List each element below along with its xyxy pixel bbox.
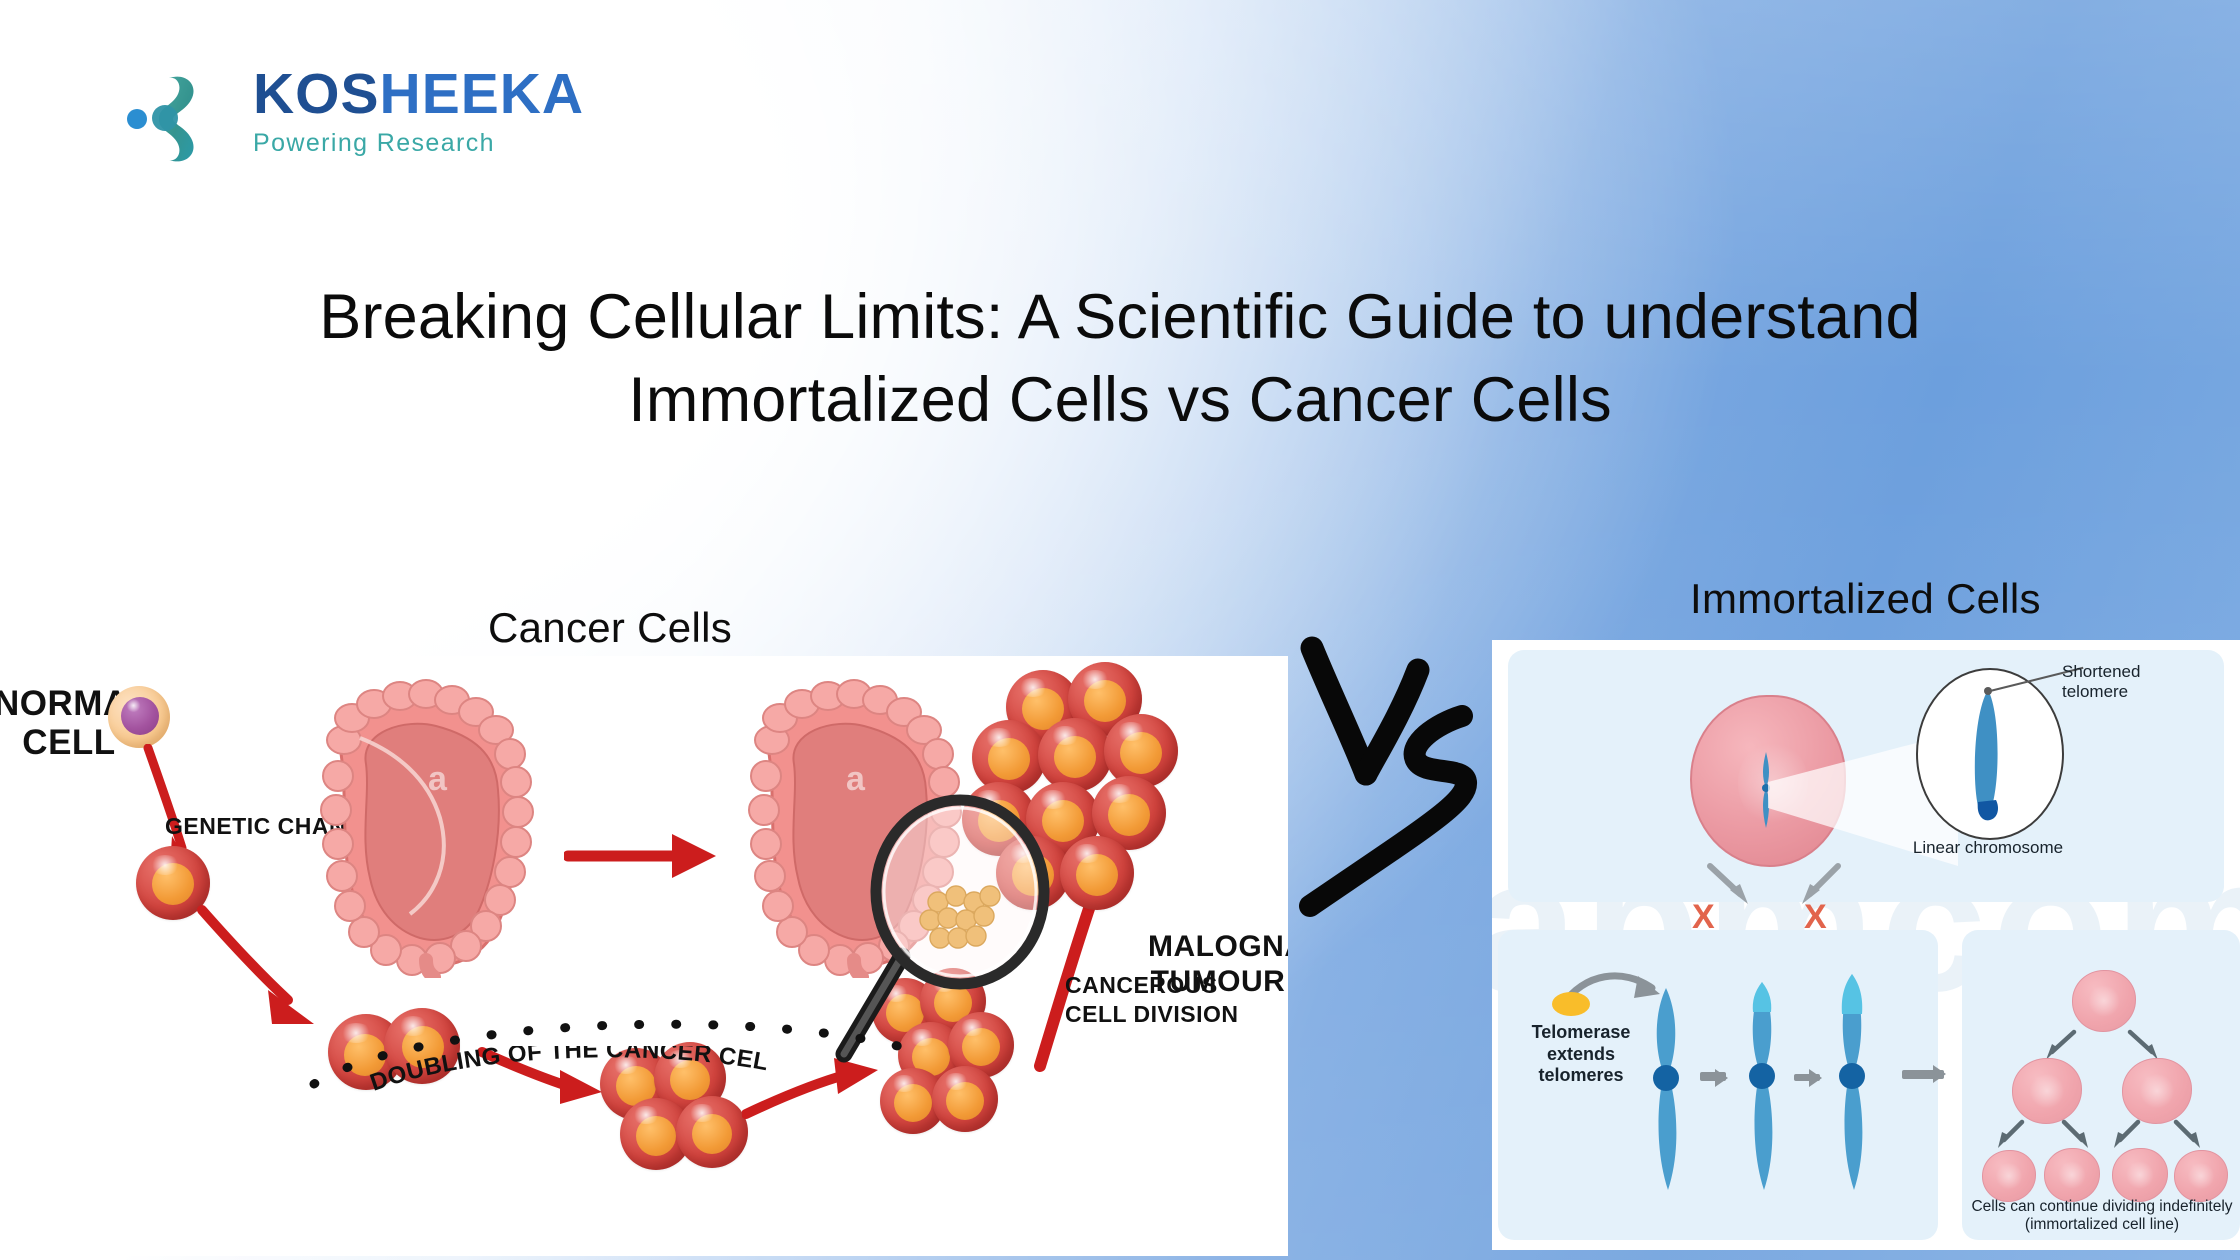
indefinite-caption-line2: (immortalized cell line) bbox=[1962, 1216, 2240, 1234]
highlight bbox=[150, 855, 180, 875]
brand-tagline: Powering Research bbox=[253, 129, 584, 158]
brand-name-part2: HEEKA bbox=[380, 62, 585, 126]
page-title-line2: Immortalized Cells vs Cancer Cells bbox=[120, 359, 2120, 442]
immortalized-cells-diagram: abmcom Shortened telomere Linear chromos… bbox=[1492, 640, 2240, 1250]
chromosome-icon bbox=[1642, 978, 1690, 1200]
red-arrow-icon bbox=[564, 826, 724, 886]
indefinite-caption-line1: Cells can continue dividing indefinitely bbox=[1962, 1198, 2240, 1216]
indefinite-division-caption: Cells can continue dividing indefinitely… bbox=[1962, 1198, 2240, 1235]
immortalized-cells-heading: Immortalized Cells bbox=[1690, 575, 2041, 623]
cancer-cell-icon bbox=[932, 1066, 998, 1132]
page-title-line1: Breaking Cellular Limits: A Scientific G… bbox=[120, 276, 2120, 359]
gray-step-arrow-icon bbox=[1700, 1074, 1726, 1081]
svg-text:a: a bbox=[428, 760, 448, 798]
highlight bbox=[126, 699, 141, 712]
telomerase-label: Telomerase extends telomeres bbox=[1496, 1022, 1666, 1087]
svg-text:DOUBLING OF THE CANCER CELL: DOUBLING OF THE CANCER CELL bbox=[360, 1046, 771, 1097]
telomere-label-line1: Shortened bbox=[2062, 662, 2222, 682]
telomerase-enzyme-icon bbox=[1552, 992, 1590, 1016]
vs-divider: Vs bbox=[1286, 620, 1496, 920]
brand-name-part1: KOS bbox=[253, 62, 380, 126]
brand-logo[interactable]: KOSHEEKA Powering Research bbox=[125, 62, 595, 172]
chromosome-zoomed-icon bbox=[1958, 680, 2018, 830]
cancer-cells-diagram: alamy NORMAL CELL GENETIC CHANGES bbox=[0, 656, 1288, 1256]
cancer-cells-heading: Cancer Cells bbox=[488, 604, 732, 652]
healthy-intestine-icon: a bbox=[300, 678, 560, 978]
telomerase-label-line2: telomeres bbox=[1496, 1065, 1666, 1087]
page-title: Breaking Cellular Limits: A Scientific G… bbox=[120, 276, 2120, 442]
doubling-text: DOUBLING OF THE CANCER CELL bbox=[360, 1046, 771, 1097]
telomere-label-line2: telomere bbox=[2062, 682, 2222, 702]
normal-cell-icon bbox=[108, 686, 170, 748]
doubling-label: DOUBLING OF THE CANCER CELL bbox=[360, 1046, 780, 1106]
kosheeka-molecule-logo-icon bbox=[125, 74, 245, 164]
malignant-tumour-label: MALOGNANT TUMOUR bbox=[1148, 929, 1288, 1000]
chromosome-icon bbox=[1738, 972, 1786, 1200]
telomerase-label-line1: Telomerase extends bbox=[1496, 1022, 1666, 1065]
gray-step-arrow-icon bbox=[1794, 1074, 1820, 1081]
linear-chromosome-label: Linear chromosome bbox=[1900, 838, 2076, 858]
cancerous-label-line2: CELL DIVISION bbox=[1065, 1000, 1239, 1029]
malignant-label-line1: MALOGNANT bbox=[1148, 929, 1288, 964]
malignant-label-line2: TUMOUR bbox=[1148, 964, 1288, 999]
brand-name: KOSHEEKA bbox=[253, 66, 584, 123]
shortened-telomere-label: Shortened telomere bbox=[2062, 662, 2222, 703]
gray-transition-arrow-icon bbox=[1902, 1070, 1944, 1079]
chromosome-icon bbox=[1828, 966, 1876, 1200]
